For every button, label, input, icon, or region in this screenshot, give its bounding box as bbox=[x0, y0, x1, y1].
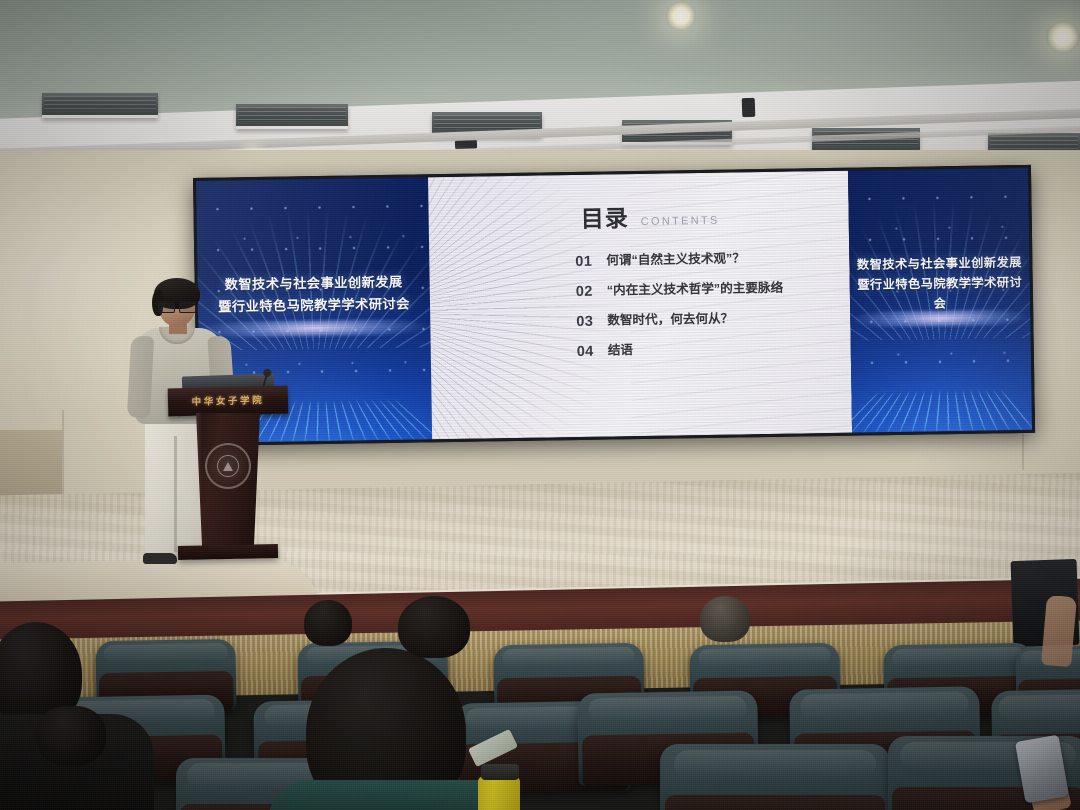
toc-item-text: “内在主义技术哲学”的主要脉络 bbox=[607, 279, 784, 300]
toc-item-number: 01 bbox=[575, 252, 596, 273]
podium-institution-name: 中华女子学院 bbox=[168, 392, 288, 409]
audience-arm bbox=[1041, 596, 1077, 667]
ceiling-sensor-box bbox=[742, 98, 756, 117]
audience-seating-area bbox=[0, 596, 1080, 810]
slide-title-en: CONTENTS bbox=[641, 216, 720, 230]
led-left-banner-line2: 暨行业特色马院教学学术研讨会 bbox=[204, 293, 424, 318]
toc-item-number: 04 bbox=[577, 342, 598, 363]
podium-top-plate: 中华女子学院 bbox=[168, 386, 289, 417]
audience-head bbox=[398, 596, 470, 658]
slide-title-cn: 目录 bbox=[581, 207, 629, 231]
led-right-banner-text: 数智技术与社会事业创新发展 暨行业特色马院教学学术研讨会 bbox=[849, 253, 1030, 315]
podium-base bbox=[178, 544, 278, 560]
thermos-cap bbox=[481, 764, 519, 780]
radiating-lines-graphic-secondary bbox=[428, 203, 562, 439]
toc-item: 02 “内在主义技术哲学”的主要脉络 bbox=[576, 278, 834, 303]
hvac-vent bbox=[236, 104, 348, 129]
university-emblem-icon bbox=[205, 443, 251, 489]
audience-head bbox=[700, 596, 750, 642]
toc-item: 03 数智时代，何去何从？ bbox=[576, 308, 834, 333]
led-right-banner-panel: 数智技术与社会事业创新发展 暨行业特色马院教学学术研讨会 bbox=[848, 168, 1032, 433]
slide-contents-list: 01 何谓“自然主义技术观”？ 02 “内在主义技术哲学”的主要脉络 03 数智… bbox=[575, 248, 835, 372]
toc-item-text: 何谓“自然主义技术观”？ bbox=[606, 249, 745, 269]
toc-item-number: 03 bbox=[576, 312, 597, 333]
led-right-banner-line1: 数智技术与社会事业创新发展 bbox=[855, 254, 1023, 276]
data-flow-grid-graphic bbox=[848, 390, 1032, 433]
audience-head bbox=[36, 706, 106, 766]
ceiling-downlight bbox=[1046, 22, 1080, 52]
emblem-inner-ring bbox=[217, 455, 239, 477]
lectern-podium: 中华女子学院 bbox=[168, 387, 288, 570]
emblem-triangle bbox=[223, 462, 233, 471]
toc-item-text: 结语 bbox=[608, 341, 633, 360]
presenter-left-arm bbox=[127, 335, 154, 418]
seat bbox=[660, 744, 890, 810]
audience-head bbox=[304, 600, 352, 646]
toc-item-text: 数智时代，何去何从？ bbox=[607, 310, 733, 330]
presentation-slide: 目录 CONTENTS 01 何谓“自然主义技术观”？ 02 “内在主义技术哲学… bbox=[428, 171, 852, 440]
led-right-banner-line2: 暨行业特色马院教学学术研讨会 bbox=[856, 273, 1025, 315]
hvac-vent bbox=[42, 93, 158, 118]
ceiling-downlight bbox=[666, 2, 696, 30]
slide-heading: 目录 CONTENTS bbox=[581, 206, 720, 231]
glasses-icon bbox=[158, 302, 196, 311]
toc-item: 04 结语 bbox=[577, 338, 835, 363]
toc-item: 01 何谓“自然主义技术观”？ bbox=[575, 248, 833, 273]
led-video-wall: 数智技术与社会事业创新发展 暨行业特色马院教学学术研讨会 目录 CONTENTS… bbox=[193, 165, 1035, 446]
thermos-bottle bbox=[478, 776, 520, 810]
toc-item-number: 02 bbox=[576, 282, 597, 303]
auditorium-photo: 数智技术与社会事业创新发展 暨行业特色马院教学学术研讨会 目录 CONTENTS… bbox=[0, 0, 1080, 810]
